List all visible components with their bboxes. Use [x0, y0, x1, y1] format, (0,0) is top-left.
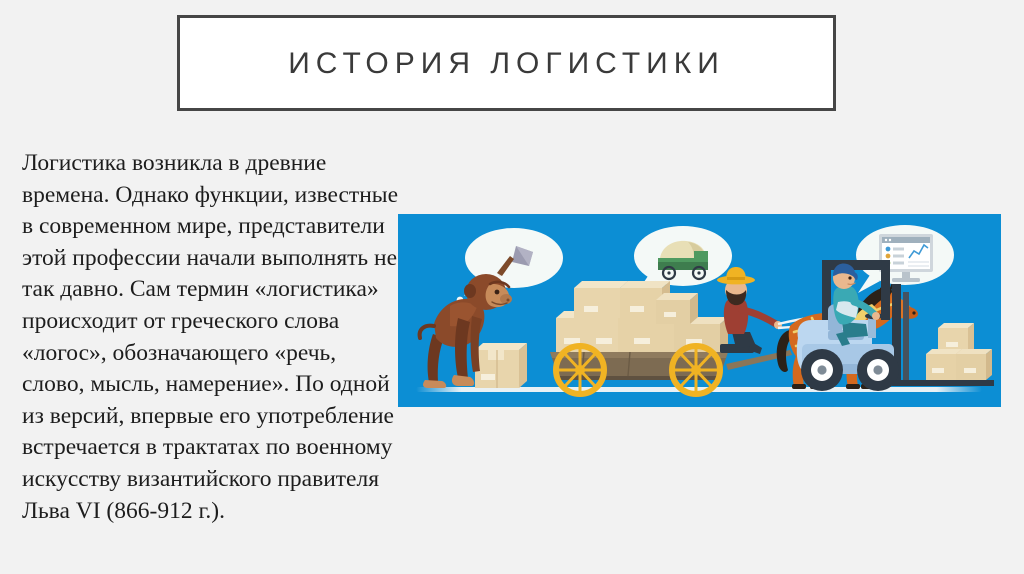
illustration-panel [398, 214, 1001, 407]
slide-root: ИСТОРИЯ ЛОГИСТИКИ Логистика возникла в д… [0, 0, 1024, 574]
page-title: ИСТОРИЯ ЛОГИСТИКИ [180, 47, 833, 81]
body-paragraph: Логистика возникла в древние времена. Од… [22, 148, 402, 527]
cart-wheel-rear [556, 346, 604, 394]
logistics-evolution-illustration [398, 214, 1001, 407]
title-box: ИСТОРИЯ ЛОГИСТИКИ [177, 15, 836, 111]
box-ground-left [475, 343, 527, 388]
cart-wheel-front [672, 346, 720, 394]
